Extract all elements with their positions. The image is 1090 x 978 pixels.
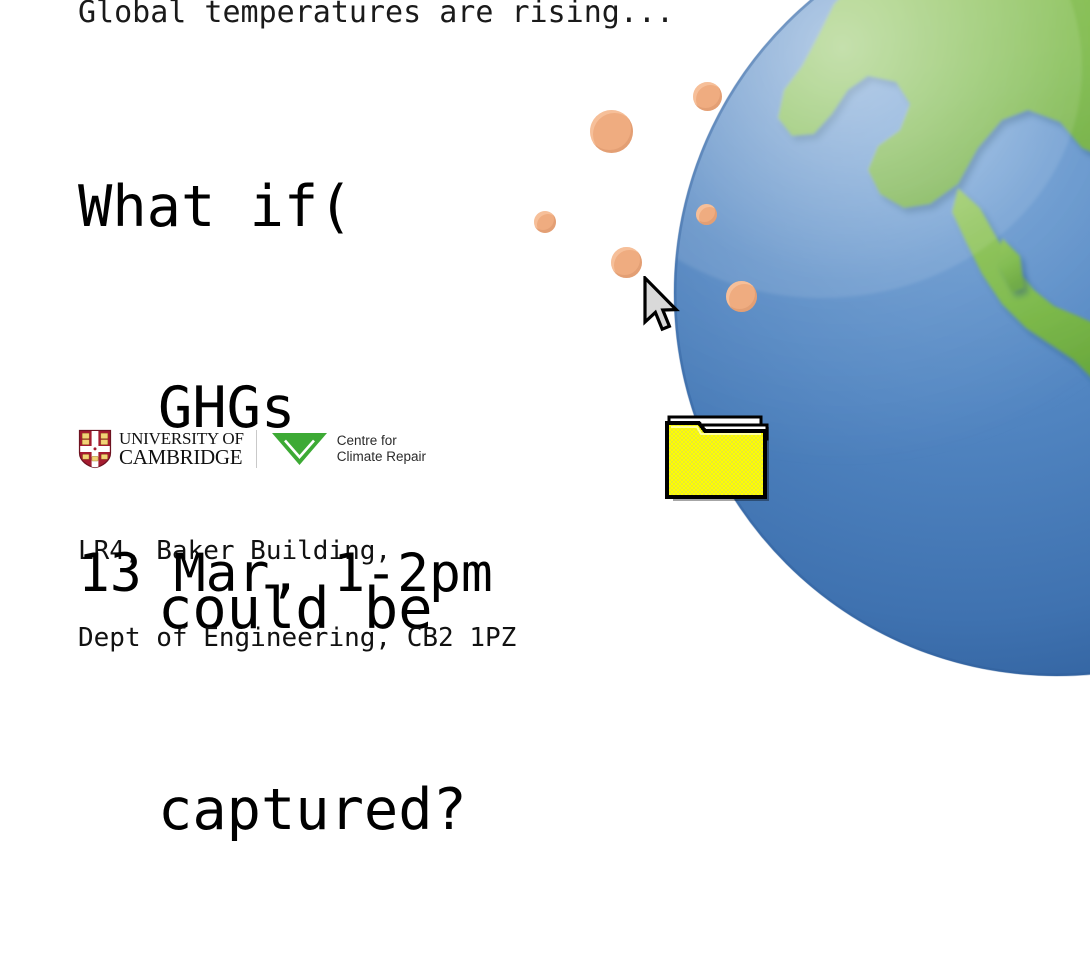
logo-divider <box>256 430 257 468</box>
ccr-line-2: Climate Repair <box>337 449 426 465</box>
centre-for-climate-repair-logo: Centre for Climate Repair <box>271 431 426 467</box>
headline-line-1: What if( <box>78 174 467 241</box>
cambridge-wordmark: UNIVERSITY OF CAMBRIDGE <box>119 431 244 467</box>
cambridge-shield-icon <box>78 429 112 469</box>
climate-repair-wordmark: Centre for Climate Repair <box>337 433 426 465</box>
event-date-text: 13 Mar, 1-2pm <box>78 543 493 605</box>
kicker-text: Global temperatures are rising... <box>78 0 674 30</box>
logo-row: UNIVERSITY OF CAMBRIDGE Centre for Clima… <box>78 425 426 473</box>
cambridge-line-2: CAMBRIDGE <box>119 447 244 467</box>
venue-line-2: Dept of Engineering, CB2 1PZ <box>78 624 516 653</box>
ccr-line-1: Centre for <box>337 433 426 449</box>
green-chevron-icon <box>271 431 328 467</box>
headline-line-4: captured? <box>78 777 467 844</box>
university-of-cambridge-logo: UNIVERSITY OF CAMBRIDGE <box>78 429 244 469</box>
